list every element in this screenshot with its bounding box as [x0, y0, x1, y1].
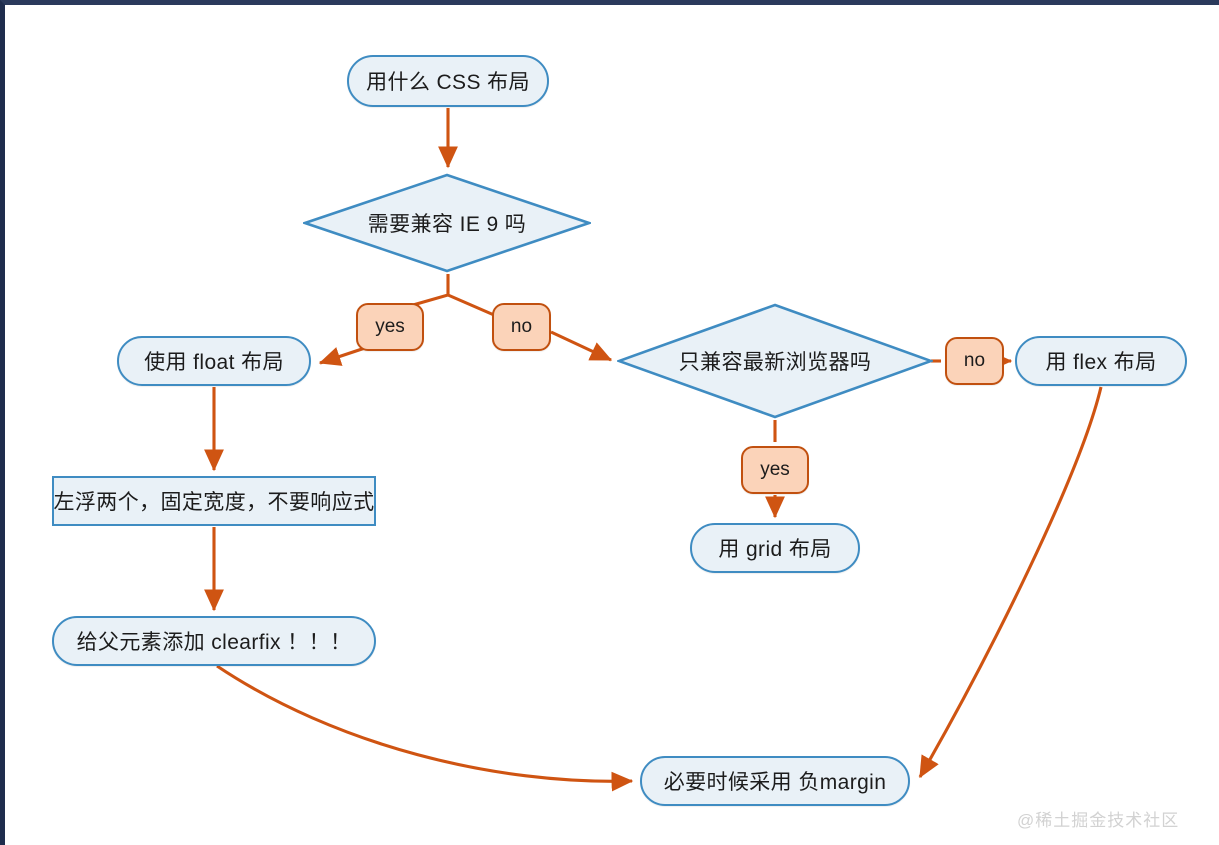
label-no-modern[interactable]: no	[945, 337, 1004, 385]
node-two-floats-label: 左浮两个，固定宽度，不要响应式	[54, 486, 375, 516]
node-negative-margin-label: 必要时候采用 负margin	[664, 766, 887, 796]
node-add-clearfix-label: 给父元素添加 clearfix ！！！	[77, 626, 352, 656]
edge-no-to-modern	[551, 332, 611, 360]
node-two-floats[interactable]: 左浮两个，固定宽度，不要响应式	[52, 476, 376, 526]
node-start-label: 用什么 CSS 布局	[366, 66, 530, 96]
label-yes-ie9-text: yes	[375, 316, 405, 338]
node-use-grid-label: 用 grid 布局	[718, 533, 831, 563]
edge-clearfix-to-negmargin	[217, 666, 632, 781]
edge-flex-to-negmargin	[920, 387, 1101, 777]
node-use-flex[interactable]: 用 flex 布局	[1015, 336, 1187, 386]
label-yes-ie9[interactable]: yes	[356, 303, 424, 351]
node-decision-ie9[interactable]: 需要兼容 IE 9 吗	[303, 173, 591, 273]
flowchart-canvas: 用什么 CSS 布局 需要兼容 IE 9 吗 yes no 使用 float 布…	[0, 0, 1219, 845]
node-use-float[interactable]: 使用 float 布局	[117, 336, 311, 386]
label-yes-modern[interactable]: yes	[741, 446, 809, 494]
label-no-modern-text: no	[964, 350, 985, 372]
edge-ie9-to-yes	[413, 274, 448, 305]
node-use-float-label: 使用 float 布局	[144, 346, 284, 376]
node-decision-ie9-label: 需要兼容 IE 9 吗	[368, 208, 526, 238]
label-yes-modern-text: yes	[760, 459, 790, 481]
node-use-flex-label: 用 flex 布局	[1046, 346, 1157, 376]
node-use-grid[interactable]: 用 grid 布局	[690, 523, 860, 573]
watermark: @稀土掘金技术社区	[1017, 806, 1179, 831]
node-decision-modern-browser-label: 只兼容最新浏览器吗	[679, 346, 872, 376]
node-start[interactable]: 用什么 CSS 布局	[347, 55, 549, 107]
node-add-clearfix[interactable]: 给父元素添加 clearfix ！！！	[52, 616, 376, 666]
label-no-ie9-text: no	[511, 316, 532, 338]
node-negative-margin[interactable]: 必要时候采用 负margin	[640, 756, 910, 806]
label-no-ie9[interactable]: no	[492, 303, 551, 351]
flowchart-edges	[5, 5, 1219, 845]
edge-ie9-to-no	[448, 295, 494, 315]
edge-yes-to-float	[320, 348, 365, 363]
node-decision-modern-browser[interactable]: 只兼容最新浏览器吗	[617, 303, 933, 419]
